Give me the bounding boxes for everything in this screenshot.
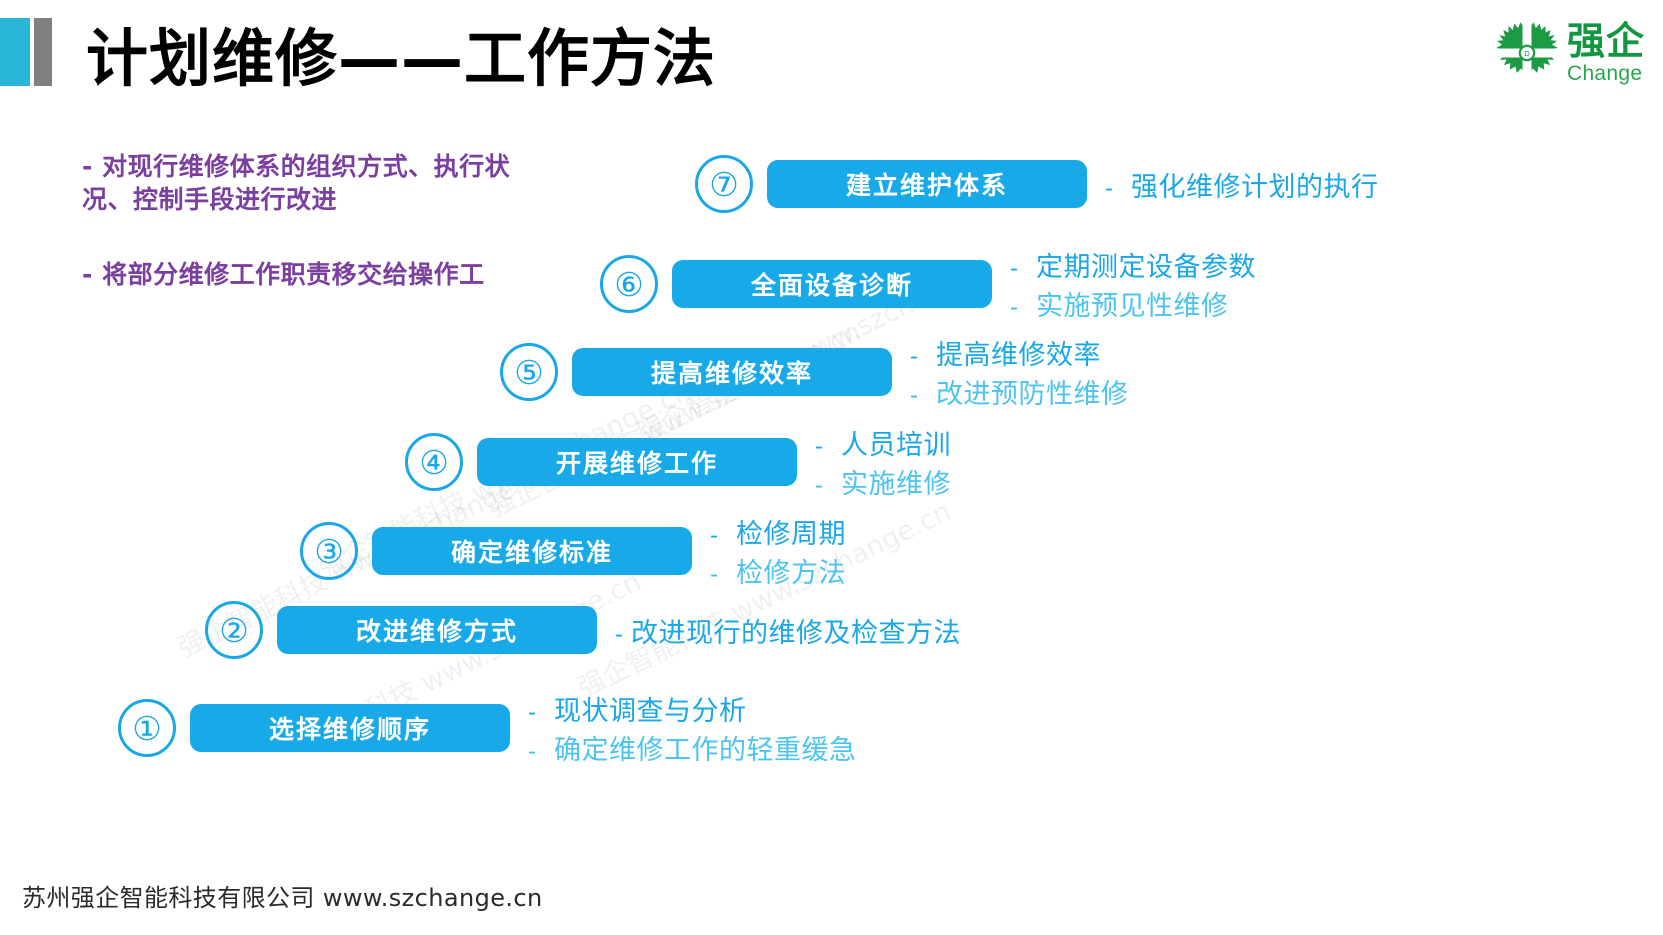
description-text: 确定维修工作的轻重缓急 <box>554 728 857 767</box>
step-descriptions-6: - 定期测定设备参数 - 实施预见性维修 <box>1010 245 1256 323</box>
step-number-2: ② <box>205 601 263 659</box>
description-text: 检修周期 <box>736 512 846 551</box>
step-label-5[interactable]: 提高维修效率 <box>572 348 892 396</box>
step-7[interactable]: ⑦ 建立维护体系 - 强化维修计划的执行 <box>695 155 1379 213</box>
dash-marker: - <box>615 621 631 649</box>
step-label-4[interactable]: 开展维修工作 <box>477 438 797 486</box>
description-text: 实施预见性维修 <box>1036 284 1229 323</box>
description-text: 改进现行的维修及检查方法 <box>631 611 961 650</box>
dash-marker: - <box>1105 175 1131 203</box>
description-row: - 实施维修 <box>815 462 951 501</box>
dash-marker: - <box>710 522 736 550</box>
dash-marker: - <box>1010 255 1036 283</box>
description-row: - 现状调查与分析 <box>528 689 857 728</box>
dash-marker: - <box>910 343 936 371</box>
step-number-5: ⑤ <box>500 343 558 401</box>
step-number-7: ⑦ <box>695 155 753 213</box>
description-text: 强化维修计划的执行 <box>1131 165 1379 204</box>
dash-marker: - <box>1010 294 1036 322</box>
step-label-6[interactable]: 全面设备诊断 <box>672 260 992 308</box>
description-text: 人员培训 <box>841 423 951 462</box>
description-text: 检修方法 <box>736 551 846 590</box>
step-5[interactable]: ⑤ 提高维修效率 - 提高维修效率 - 改进预防性维修 <box>500 333 1129 411</box>
description-text: 现状调查与分析 <box>554 689 747 728</box>
step-number-1: ① <box>118 699 176 757</box>
step-descriptions-5: - 提高维修效率 - 改进预防性维修 <box>910 333 1129 411</box>
description-text: 改进预防性维修 <box>936 372 1129 411</box>
step-6[interactable]: ⑥ 全面设备诊断 - 定期测定设备参数 - 实施预见性维修 <box>600 245 1256 323</box>
step-number-3: ③ <box>300 522 358 580</box>
dash-marker: - <box>910 382 936 410</box>
description-row: - 人员培训 <box>815 423 951 462</box>
description-row: - 提高维修效率 <box>910 333 1129 372</box>
step-descriptions-1: - 现状调查与分析 - 确定维修工作的轻重缓急 <box>528 689 857 767</box>
step-label-7[interactable]: 建立维护体系 <box>767 160 1087 208</box>
step-label-3[interactable]: 确定维修标准 <box>372 527 692 575</box>
dash-marker: - <box>528 699 554 727</box>
step-descriptions-4: - 人员培训 - 实施维修 <box>815 423 951 501</box>
step-3[interactable]: ③ 确定维修标准 - 检修周期 - 检修方法 <box>300 512 846 590</box>
description-row: - 强化维修计划的执行 <box>1105 165 1379 204</box>
dash-marker: - <box>528 738 554 766</box>
footer-text: 苏州强企智能科技有限公司 www.szchange.cn <box>22 878 543 913</box>
description-row: - 检修周期 <box>710 512 846 551</box>
step-number-6: ⑥ <box>600 255 658 313</box>
dash-marker: - <box>710 561 736 589</box>
description-row: - 改进现行的维修及检查方法 <box>615 611 961 650</box>
step-label-2[interactable]: 改进维修方式 <box>277 606 597 654</box>
description-row: - 实施预见性维修 <box>1010 284 1256 323</box>
step-descriptions-7: - 强化维修计划的执行 <box>1105 165 1379 204</box>
step-descriptions-3: - 检修周期 - 检修方法 <box>710 512 846 590</box>
step-number-4: ④ <box>405 433 463 491</box>
description-row: - 定期测定设备参数 <box>1010 245 1256 284</box>
dash-marker: - <box>815 433 841 461</box>
step-label-1[interactable]: 选择维修顺序 <box>190 704 510 752</box>
step-4[interactable]: ④ 开展维修工作 - 人员培训 - 实施维修 <box>405 423 951 501</box>
description-row: - 确定维修工作的轻重缓急 <box>528 728 857 767</box>
description-text: 定期测定设备参数 <box>1036 245 1256 284</box>
step-descriptions-2: - 改进现行的维修及检查方法 <box>615 611 961 650</box>
dash-marker: - <box>815 472 841 500</box>
description-row: - 改进预防性维修 <box>910 372 1129 411</box>
step-2[interactable]: ② 改进维修方式 - 改进现行的维修及检查方法 <box>205 601 961 659</box>
description-row: - 检修方法 <box>710 551 846 590</box>
staircase-diagram: ⑦ 建立维护体系 - 强化维修计划的执行 ⑥ 全面设备诊断 - 定期测定设备参数… <box>0 0 1663 935</box>
description-text: 提高维修效率 <box>936 333 1101 372</box>
step-1[interactable]: ① 选择维修顺序 - 现状调查与分析 - 确定维修工作的轻重缓急 <box>118 689 857 767</box>
description-text: 实施维修 <box>841 462 951 501</box>
